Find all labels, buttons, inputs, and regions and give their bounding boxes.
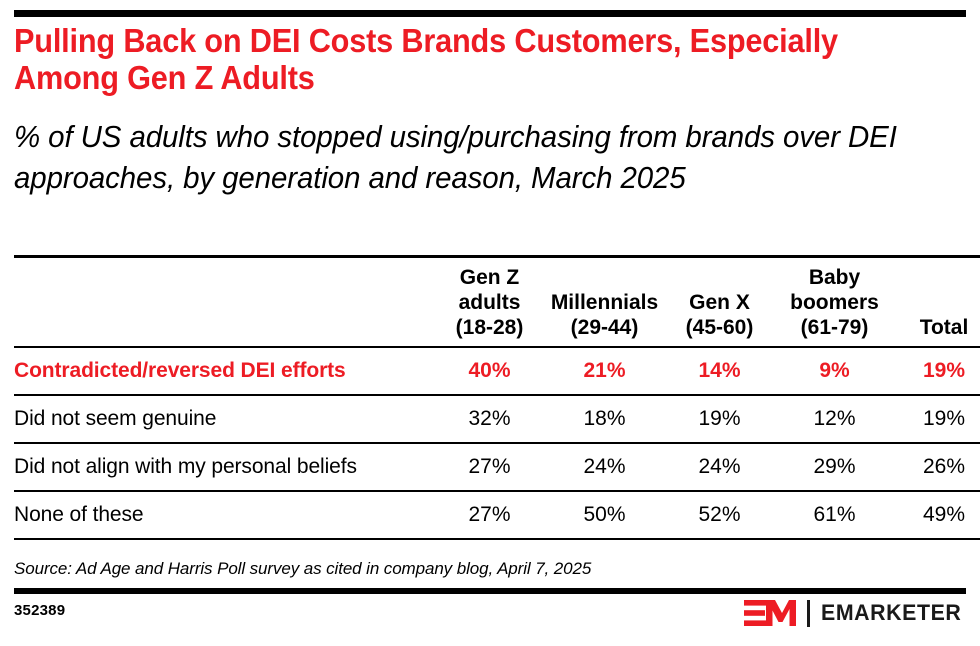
cell-value: 50%: [547, 491, 662, 539]
column-header-baby-boomers: Baby boomers (61-79): [777, 257, 892, 348]
column-header-line-3: (18-28): [432, 315, 547, 340]
cell-value: 24%: [547, 443, 662, 491]
emarketer-logo: EMARKETER: [744, 598, 966, 628]
column-header-line-1: Total: [892, 315, 980, 340]
logo-divider: [807, 600, 810, 627]
cell-value: 52%: [662, 491, 777, 539]
column-header-row-label: [14, 257, 432, 348]
logo-wordmark: EMARKETER: [821, 600, 961, 626]
bottom-divider-rule: [14, 588, 966, 594]
column-header-line-1: Gen X: [662, 290, 777, 315]
cell-value: 27%: [432, 443, 547, 491]
data-table-container: Gen Z adults (18-28) Millennials (29-44)…: [14, 255, 966, 540]
table-header: Gen Z adults (18-28) Millennials (29-44)…: [14, 257, 980, 348]
cell-value: 24%: [662, 443, 777, 491]
table-row: Contradicted/reversed DEI efforts 40% 21…: [14, 347, 980, 395]
cell-value: 19%: [892, 395, 980, 443]
cell-value: 32%: [432, 395, 547, 443]
column-header-gen-x: Gen X (45-60): [662, 257, 777, 348]
source-note: Source: Ad Age and Harris Poll survey as…: [14, 558, 966, 580]
em-logo-icon: [744, 600, 796, 626]
column-header-line-2: adults: [432, 290, 547, 315]
table-row: Did not align with my personal beliefs 2…: [14, 443, 980, 491]
column-header-total: Total: [892, 257, 980, 348]
cell-value: 14%: [662, 347, 777, 395]
cell-value: 29%: [777, 443, 892, 491]
cell-value: 27%: [432, 491, 547, 539]
page-title: Pulling Back on DEI Costs Brands Custome…: [14, 22, 851, 96]
row-label: Did not seem genuine: [14, 395, 432, 443]
table-body: Contradicted/reversed DEI efforts 40% 21…: [14, 347, 980, 539]
column-header-line-2: (45-60): [662, 315, 777, 340]
row-label: Contradicted/reversed DEI efforts: [14, 347, 432, 395]
row-label: None of these: [14, 491, 432, 539]
cell-value: 18%: [547, 395, 662, 443]
column-header-line-3: (61-79): [777, 315, 892, 340]
cell-value: 26%: [892, 443, 980, 491]
top-divider-rule: [14, 10, 966, 17]
cell-value: 9%: [777, 347, 892, 395]
column-header-line-1: Millennials: [547, 290, 662, 315]
row-label: Did not align with my personal beliefs: [14, 443, 432, 491]
cell-value: 49%: [892, 491, 980, 539]
column-header-gen-z: Gen Z adults (18-28): [432, 257, 547, 348]
column-header-line-1: Baby: [777, 265, 892, 290]
cell-value: 21%: [547, 347, 662, 395]
table-header-row: Gen Z adults (18-28) Millennials (29-44)…: [14, 257, 980, 348]
table-row: None of these 27% 50% 52% 61% 49%: [14, 491, 980, 539]
column-header-line-2: (29-44): [547, 315, 662, 340]
column-header-line-1: Gen Z: [432, 265, 547, 290]
page-subtitle: % of US adults who stopped using/purchas…: [14, 116, 945, 198]
column-header-line-2: boomers: [777, 290, 892, 315]
table-row: Did not seem genuine 32% 18% 19% 12% 19%: [14, 395, 980, 443]
cell-value: 19%: [892, 347, 980, 395]
chart-id: 352389: [14, 602, 65, 619]
data-table: Gen Z adults (18-28) Millennials (29-44)…: [14, 255, 980, 540]
cell-value: 19%: [662, 395, 777, 443]
cell-value: 40%: [432, 347, 547, 395]
column-header-millennials: Millennials (29-44): [547, 257, 662, 348]
chart-page: Pulling Back on DEI Costs Brands Custome…: [0, 0, 980, 646]
cell-value: 61%: [777, 491, 892, 539]
cell-value: 12%: [777, 395, 892, 443]
